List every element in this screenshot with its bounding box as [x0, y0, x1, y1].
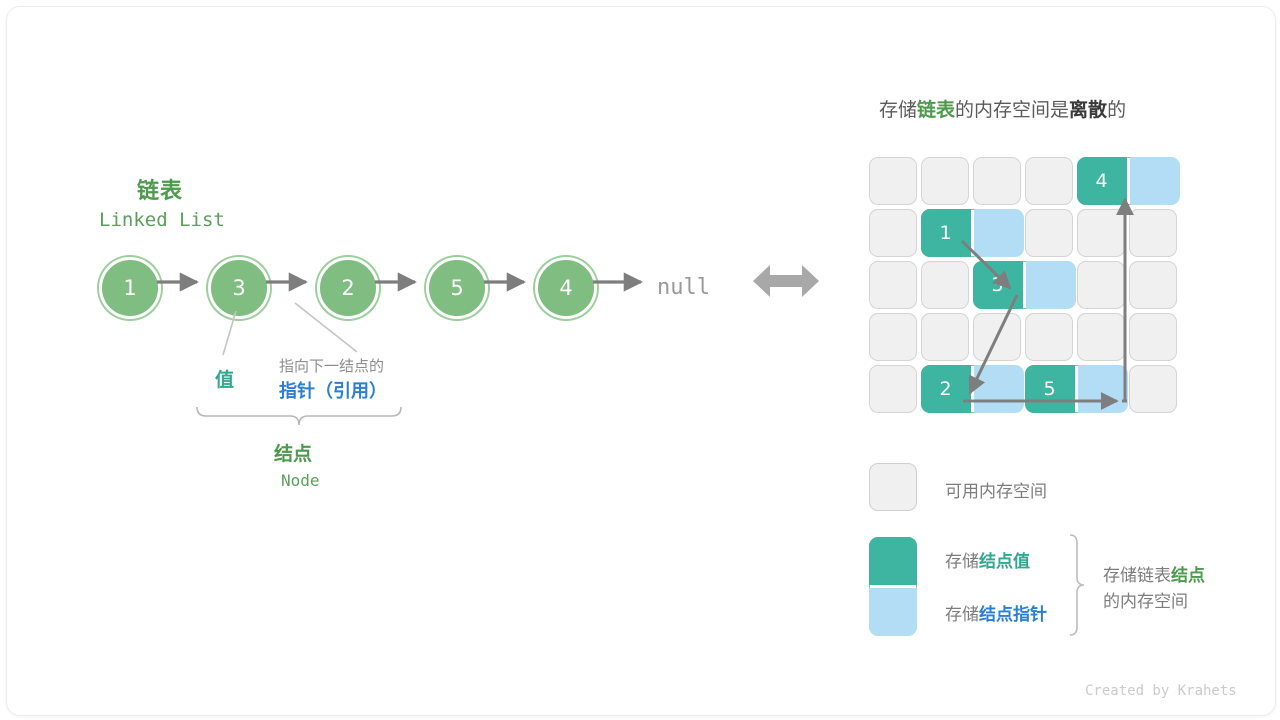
memory-free-cell — [1129, 365, 1177, 413]
legend-free-label: 可用内存空间 — [945, 477, 1047, 502]
legend-pointer-bold: 结点指针 — [979, 605, 1047, 625]
list-node-1: 1 — [99, 257, 161, 319]
memory-node-cell-4: 4 — [1077, 157, 1177, 205]
memory-node-cell-2: 2 — [921, 365, 1021, 413]
legend-brace-line2: 的内存空间 — [1103, 589, 1205, 615]
credit-label: Created by Krahets — [1085, 683, 1237, 699]
memory-free-cell — [869, 209, 917, 257]
linked-list-title-en: Linked List — [99, 209, 225, 231]
list-node-5: 4 — [535, 257, 597, 319]
memory-free-cell — [869, 157, 917, 205]
memory-free-cell — [869, 313, 917, 361]
memory-title: 存储链表的内存空间是离散的 — [879, 95, 1126, 122]
memory-node-value: 2 — [921, 365, 971, 413]
memory-node-pointer — [1078, 365, 1128, 413]
memory-free-cell — [869, 365, 917, 413]
legend-free-swatch — [869, 463, 917, 511]
linked-list-title-cn: 链表 — [137, 173, 183, 205]
memory-free-cell — [1129, 261, 1177, 309]
memory-free-cell — [1077, 313, 1125, 361]
node-brace-label-en: Node — [281, 471, 320, 490]
memory-node-value: 3 — [973, 261, 1023, 309]
memory-title-prefix: 存储 — [879, 99, 917, 121]
legend-pointer-label: 存储结点指针 — [945, 600, 1047, 625]
list-node-3: 2 — [317, 257, 379, 319]
legend-value-swatch — [869, 537, 917, 585]
null-terminator-label: null — [657, 275, 710, 300]
diagram-card: 链表 Linked List 1 3 2 5 4 null 值 指向下一结点的 … — [6, 6, 1276, 716]
legend-value-label: 存储结点值 — [945, 547, 1030, 572]
legend-brace-line1: 存储链表结点 — [1103, 563, 1205, 589]
memory-node-value: 5 — [1025, 365, 1075, 413]
memory-node-pointer — [1130, 157, 1180, 205]
memory-free-cell — [1025, 313, 1073, 361]
legend-pointer-prefix: 存储 — [945, 605, 979, 625]
node-brace — [197, 407, 401, 425]
memory-node-cell-5: 5 — [1025, 365, 1125, 413]
memory-free-cell — [1129, 313, 1177, 361]
memory-free-cell — [1129, 209, 1177, 257]
memory-free-cell — [1077, 209, 1125, 257]
memory-node-cell-3: 3 — [973, 261, 1073, 309]
memory-free-cell — [921, 261, 969, 309]
memory-node-pointer — [1026, 261, 1076, 309]
memory-node-value: 4 — [1077, 157, 1127, 205]
list-node-2: 3 — [208, 257, 270, 319]
memory-title-middle: 的内存空间是 — [955, 99, 1069, 121]
memory-free-cell — [921, 157, 969, 205]
list-node-4: 5 — [426, 257, 488, 319]
memory-free-cell — [973, 313, 1021, 361]
legend-value-prefix: 存储 — [945, 552, 979, 572]
callout-pointer-line1: 指向下一结点的 — [279, 355, 384, 376]
memory-node-cell-1: 1 — [921, 209, 1021, 257]
memory-free-cell — [921, 313, 969, 361]
memory-title-suffix: 的 — [1107, 99, 1126, 121]
memory-free-cell — [869, 261, 917, 309]
legend-brace — [1070, 535, 1084, 635]
legend-brace-label: 存储链表结点 的内存空间 — [1103, 563, 1205, 615]
memory-node-pointer — [974, 209, 1024, 257]
callout-value-label: 值 — [215, 365, 234, 392]
legend-value-bold: 结点值 — [979, 552, 1030, 572]
memory-node-value: 1 — [921, 209, 971, 257]
legend-brace-line1-a: 存储链表 — [1103, 566, 1171, 586]
legend-pointer-swatch — [869, 588, 917, 636]
callout-pointer-line2: 指针（引用） — [279, 377, 387, 403]
memory-title-bold: 离散 — [1069, 99, 1107, 121]
memory-node-pointer — [974, 365, 1024, 413]
memory-free-cell — [1025, 157, 1073, 205]
legend-node-swatch — [869, 537, 917, 635]
equivalence-double-arrow — [753, 265, 819, 297]
node-brace-label-cn: 结点 — [274, 439, 312, 466]
legend-brace-line1-b: 结点 — [1171, 566, 1205, 586]
memory-free-cell — [973, 157, 1021, 205]
memory-title-green: 链表 — [917, 99, 955, 121]
memory-free-cell — [1077, 261, 1125, 309]
memory-free-cell — [1025, 209, 1073, 257]
